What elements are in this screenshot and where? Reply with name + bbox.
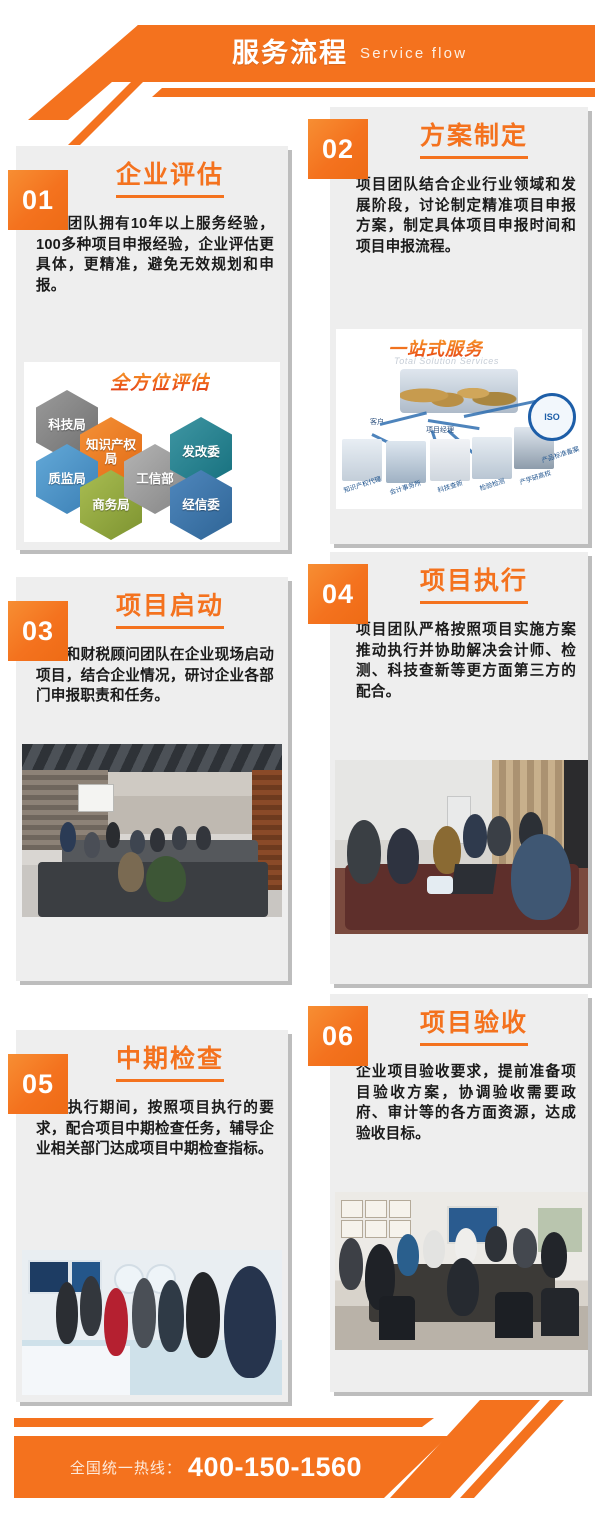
step-photo [335, 760, 588, 934]
step-header: 项目执行 [330, 552, 588, 604]
step-card-02[interactable]: 02 方案制定 项目团队结合企业行业领域和发展阶段，讨论制定精准项目申报方案，制… [330, 107, 588, 544]
step-photo [335, 1192, 588, 1350]
step-description: 企业项目验收要求，提前准备项目验收方案，协调验收需要政府、审计等的各方面资源，达… [330, 1046, 588, 1155]
step-title: 项目验收 [420, 1008, 528, 1046]
page-title: 服务流程 [232, 40, 348, 67]
step-photo [22, 1250, 282, 1395]
iso-seal-icon: ISO [528, 393, 576, 441]
step-number-badge: 02 [308, 119, 368, 179]
service-arrow-1 [380, 411, 427, 426]
step-description: 项目团队严格按照项目实施方案推动执行并协助解决会计师、检测、科技查新等更方面第三… [330, 604, 588, 713]
step-header: 方案制定 [330, 107, 588, 159]
step-number-badge: 04 [308, 564, 368, 624]
step-card-03[interactable]: 03 项目启动 项目和财税顾问团队在企业现场启动项目，结合企业情况，研讨企业各部… [16, 577, 288, 981]
step-title: 项目启动 [116, 591, 224, 629]
step-card-05[interactable]: 05 中期检查 项目执行期间，按照项目执行的要求，配合项目中期检查任务，辅导企业… [16, 1030, 288, 1402]
page-subtitle: Service flow [360, 46, 467, 62]
service-tile-search [430, 439, 470, 481]
hotline-label: 全国统一热线： [70, 1457, 182, 1478]
footer-hotline-group: 全国统一热线： 400-150-1560 [14, 1436, 448, 1498]
page-header: 服务流程 Service flow [0, 0, 605, 108]
one-stop-service-diagram: 一站式服务 Total Solution Services 客户 项目经理 知识… [336, 329, 582, 509]
page-footer: 全国统一热线： 400-150-1560 [0, 1400, 605, 1538]
step-title: 项目执行 [420, 566, 528, 604]
step-description: 项目团队结合企业行业领域和发展阶段，讨论制定精准项目申报方案，制定具体项目申报时… [330, 159, 588, 268]
hexagon-chart-title: 全方位评估 [110, 368, 210, 395]
step-photo [22, 744, 282, 917]
step-card-04[interactable]: 04 项目执行 项目团队严格按照项目实施方案推动执行并协助解决会计师、检测、科技… [330, 552, 588, 984]
service-tile-testing [472, 437, 512, 479]
hotline-number[interactable]: 400-150-1560 [188, 1452, 362, 1483]
step-title: 企业评估 [116, 160, 224, 198]
service-node-manager: 项目经理 [426, 425, 454, 435]
service-node-customer: 客户 [370, 417, 384, 427]
step-number-badge: 05 [8, 1054, 68, 1114]
hexagon-assessment-chart: 全方位评估 科技局 知识产权局 质监局 商务局 工信部 发改委 经信委 [24, 362, 280, 542]
step-number-badge: 03 [8, 601, 68, 661]
service-tile-accounting [386, 441, 426, 483]
step-header: 项目验收 [330, 994, 588, 1046]
step-number-badge: 06 [308, 1006, 368, 1066]
step-number-badge: 01 [8, 170, 68, 230]
step-card-01[interactable]: 01 企业评估 项目团队拥有10年以上服务经验，100多种项目申报经验，企业评估… [16, 146, 288, 550]
step-title: 中期检查 [116, 1044, 224, 1082]
service-label-university: 产学研高校 [518, 467, 552, 487]
step-card-06[interactable]: 06 项目验收 企业项目验收要求，提前准备项目验收方案，协调验收需要政府、审计等… [330, 994, 588, 1392]
service-diagram-subtitle: Total Solution Services [394, 356, 499, 366]
service-flow-page: 服务流程 Service flow 01 企业评估 项目团队拥有10年以上服务经… [0, 0, 605, 1538]
header-title-group: 服务流程 Service flow [0, 25, 595, 82]
step-title: 方案制定 [420, 121, 528, 159]
